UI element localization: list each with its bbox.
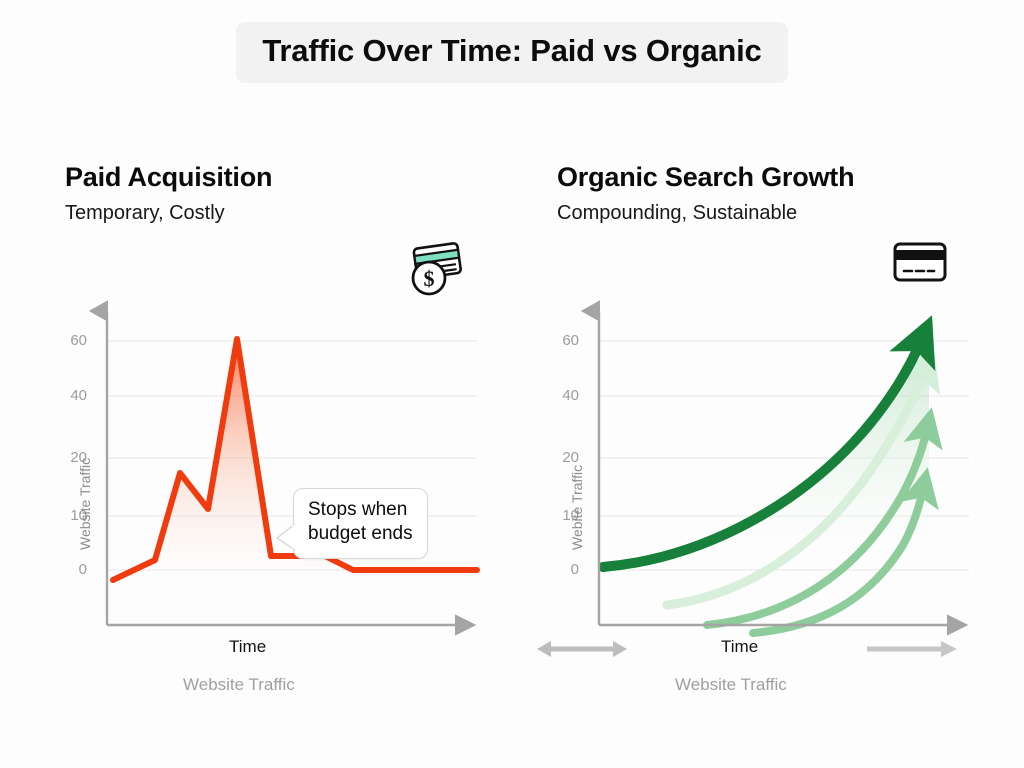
chart-organic: 60 40 20 10 0 Webite Traffic [557,295,977,645]
ytick-paid-60: 60 [57,332,87,349]
panel-subtitle-paid: Temporary, Costly [65,202,225,225]
panel-paid-acquisition: Paid Acquisition Temporary, Costly $ [20,150,500,730]
panel-organic-growth: Organic Search Growth Compounding, Susta… [512,150,992,730]
ytick-organic-0: 0 [549,561,579,578]
ytick-organic-20: 20 [549,449,579,466]
y-axis-label-organic: Webite Traffic [569,465,585,550]
callout-tail-paid [275,522,299,552]
ytick-organic-60: 60 [549,332,579,349]
x-axis-label-organic: Time [721,637,758,657]
panel-title-organic: Organic Search Growth [557,162,854,193]
svg-text:$: $ [424,266,435,291]
x-axis-label-paid: Time [229,637,266,657]
panel-subtitle-organic: Compounding, Sustainable [557,202,797,225]
callout-paid: Stops when budget ends [293,488,428,559]
ytick-organic-40: 40 [549,387,579,404]
arrow-right-icon [867,638,957,660]
credit-card-icon [892,240,950,291]
double-arrow-left-right [537,638,627,660]
ytick-paid-0: 0 [57,561,87,578]
panel-title-paid: Paid Acquisition [65,162,272,193]
infographic-root: Traffic Over Time: Paid vs Organic Paid … [0,0,1024,768]
chart-caption-paid: Website Traffic [183,675,295,695]
y-axis-label-paid: Website Traffic [77,458,93,550]
credit-card-dollar-icon: $ [405,240,467,303]
chart-caption-organic: Website Traffic [675,675,787,695]
page-title: Traffic Over Time: Paid vs Organic [236,22,787,83]
ytick-paid-40: 40 [57,387,87,404]
chart-paid: 60 40 20 10 0 Website Traffic [65,295,485,645]
title-container: Traffic Over Time: Paid vs Organic [0,22,1024,83]
